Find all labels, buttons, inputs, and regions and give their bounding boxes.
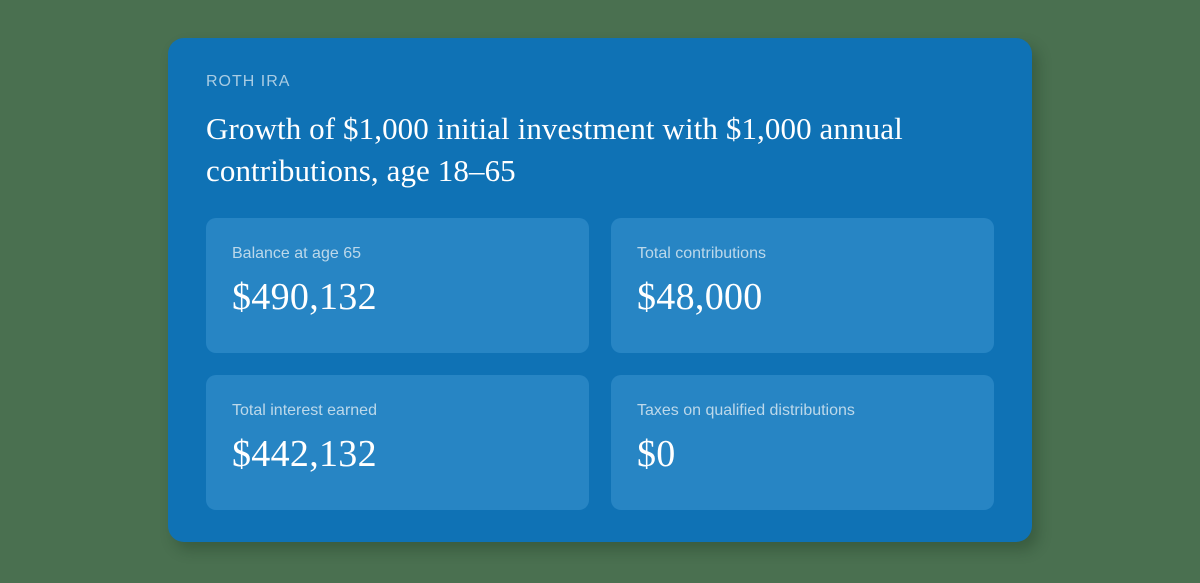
stat-label: Balance at age 65 [232, 244, 563, 264]
stat-tile-total-interest-earned: Total interest earned $442,132 [206, 375, 589, 510]
panel-eyebrow: ROTH IRA [206, 72, 994, 92]
stat-value: $48,000 [637, 274, 968, 320]
page-title: Growth of $1,000 initial investment with… [206, 108, 976, 192]
stat-tile-balance-at-age-65: Balance at age 65 $490,132 [206, 218, 589, 353]
stat-label: Total interest earned [232, 401, 563, 421]
roth-ira-summary-panel: ROTH IRA Growth of $1,000 initial invest… [168, 38, 1032, 542]
screenshot-canvas: ROTH IRA Growth of $1,000 initial invest… [0, 0, 1200, 583]
stat-value: $490,132 [232, 274, 563, 320]
stat-label: Taxes on qualified distributions [637, 401, 968, 421]
stat-value: $442,132 [232, 431, 563, 477]
stat-tile-taxes-on-qualified-distributions: Taxes on qualified distributions $0 [611, 375, 994, 510]
stats-grid: Balance at age 65 $490,132 Total contrib… [206, 218, 994, 510]
stat-value: $0 [637, 431, 968, 477]
stat-tile-total-contributions: Total contributions $48,000 [611, 218, 994, 353]
stat-label: Total contributions [637, 244, 968, 264]
